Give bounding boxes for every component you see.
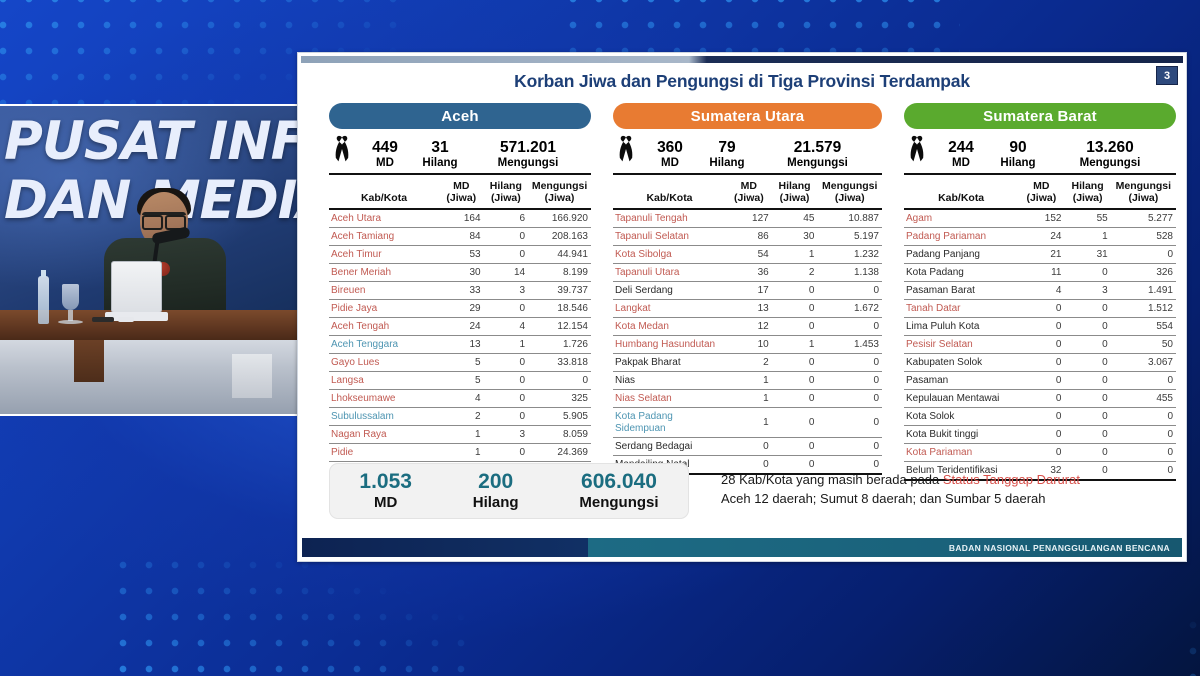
row-hilang-value: 1	[772, 336, 818, 354]
row-kabkota-name: Tanah Datar	[904, 300, 1018, 318]
row-md-value: 11	[1018, 264, 1064, 282]
col-header-md: MD (Jiwa)	[439, 178, 484, 209]
total-mengungsi-value: 606.040	[579, 470, 658, 494]
row-kabkota-name: Tapanuli Utara	[613, 264, 726, 282]
summary-hilang-label: Hilang	[413, 156, 467, 170]
row-mengungsi-value: 325	[528, 390, 591, 408]
province-summary-sumatera-barat: 244 MD 90 Hilang 13.260 Mengungsi	[904, 129, 1176, 175]
row-mengungsi-value: 326	[1111, 264, 1176, 282]
table-row: Pesisir Selatan0050	[904, 336, 1176, 354]
emergency-status-note: 28 Kab/Kota yang masih berada pada Statu…	[689, 463, 1172, 508]
row-mengungsi-value: 0	[1111, 426, 1176, 444]
footer-organization-name: BADAN NASIONAL PENANGGULANGAN BENCANA	[949, 543, 1170, 553]
table-row: Aceh Tamiang840208.163	[329, 228, 591, 246]
col-header-md-unit: (Jiwa)	[726, 193, 772, 205]
row-md-value: 0	[1018, 300, 1064, 318]
status-badge: Status Tanggap Darurat	[943, 472, 1080, 487]
table-row: Kota Padang110326	[904, 264, 1176, 282]
col-header-mengungsi-unit: (Jiwa)	[817, 193, 882, 205]
summary-md-sumbar: 244 MD	[932, 140, 990, 170]
row-md-value: 164	[439, 209, 484, 228]
row-hilang-value: 1	[484, 336, 529, 354]
row-mengungsi-value: 3.067	[1111, 354, 1176, 372]
row-kabkota-name: Nias Selatan	[613, 390, 726, 408]
row-mengungsi-value: 0	[1111, 372, 1176, 390]
col-header-mengungsi: Mengungsi (Jiwa)	[817, 178, 882, 209]
row-mengungsi-value: 1.512	[1111, 300, 1176, 318]
table-row: Pasaman000	[904, 372, 1176, 390]
row-mengungsi-value: 12.154	[528, 318, 591, 336]
province-table-aceh: Kab/Kota MD (Jiwa) Hilang (Jiwa) Mengung…	[329, 178, 591, 499]
row-kabkota-name: Kota Padang	[904, 264, 1018, 282]
table-row: Tapanuli Tengah1274510.887	[613, 209, 882, 228]
row-kabkota-name: Pidie Jaya	[329, 300, 439, 318]
col-header-hilang-text: Hilang	[1064, 181, 1110, 193]
row-hilang-value: 6	[484, 209, 529, 228]
row-mengungsi-value: 1.726	[528, 336, 591, 354]
row-md-value: 17	[726, 282, 772, 300]
row-kabkota-name: Aceh Utara	[329, 209, 439, 228]
slide-bottom-row: 1.053 MD 200 Hilang 606.040 Mengungsi 28…	[329, 463, 1172, 521]
row-mengungsi-value: 8.199	[528, 264, 591, 282]
row-hilang-value: 30	[772, 228, 818, 246]
row-md-value: 1	[726, 372, 772, 390]
col-header-mengungsi-text: Mengungsi	[528, 181, 591, 193]
table-row: Langkat1301.672	[613, 300, 882, 318]
table-row: Kepulauan Mentawai00455	[904, 390, 1176, 408]
row-hilang-value: 14	[484, 264, 529, 282]
province-table-sumatera-utara: Kab/Kota MD (Jiwa) Hilang (Jiwa) Mengung…	[613, 178, 882, 475]
table-row: Nagan Raya138.059	[329, 426, 591, 444]
col-header-md-text: MD	[439, 181, 484, 193]
row-mengungsi-value: 0	[528, 372, 591, 390]
row-kabkota-name: Kepulauan Mentawai	[904, 390, 1018, 408]
col-header-hilang-text: Hilang	[772, 181, 818, 193]
row-hilang-value: 0	[484, 372, 529, 390]
speaker-glasses	[142, 212, 186, 223]
row-hilang-value: 0	[1064, 426, 1110, 444]
table-row: Bireuen33339.737	[329, 282, 591, 300]
col-header-mengungsi-unit: (Jiwa)	[528, 193, 591, 205]
row-md-value: 5	[439, 354, 484, 372]
col-header-hilang: Hilang (Jiwa)	[1064, 178, 1110, 209]
row-hilang-value: 0	[1064, 354, 1110, 372]
row-mengungsi-value: 39.737	[528, 282, 591, 300]
table-row: Tapanuli Utara3621.138	[613, 264, 882, 282]
row-md-value: 4	[439, 390, 484, 408]
row-kabkota-name: Langsa	[329, 372, 439, 390]
col-header-kabkota: Kab/Kota	[613, 178, 726, 209]
summary-md-value: 360	[641, 140, 699, 156]
row-kabkota-name: Padang Panjang	[904, 246, 1018, 264]
total-md-label: MD	[359, 494, 412, 512]
tablet-base	[105, 312, 168, 321]
row-mengungsi-value: 24.369	[528, 444, 591, 462]
table-row: Subulussalam205.905	[329, 408, 591, 426]
row-hilang-value: 0	[484, 246, 529, 264]
row-hilang-value: 3	[484, 282, 529, 300]
table-row: Kota Bukit tinggi000	[904, 426, 1176, 444]
table-row: Aceh Utara1646166.920	[329, 209, 591, 228]
row-md-value: 33	[439, 282, 484, 300]
summary-md-aceh: 449 MD	[357, 140, 413, 170]
desk-object	[118, 317, 134, 322]
row-mengungsi-value: 0	[817, 438, 882, 456]
row-mengungsi-value: 0	[817, 390, 882, 408]
row-md-value: 1	[726, 408, 772, 438]
col-header-mengungsi-text: Mengungsi	[1111, 181, 1176, 193]
row-mengungsi-value: 0	[1111, 444, 1176, 462]
table-row: Nias Selatan100	[613, 390, 882, 408]
col-header-md-text: MD	[726, 181, 772, 193]
row-hilang-value: 0	[772, 354, 818, 372]
row-mengungsi-value: 8.059	[528, 426, 591, 444]
slide-top-bar	[301, 56, 1183, 63]
row-mengungsi-value: 1.491	[1111, 282, 1176, 300]
row-md-value: 0	[1018, 318, 1064, 336]
row-hilang-value: 0	[1064, 264, 1110, 282]
row-kabkota-name: Kota Medan	[613, 318, 726, 336]
background-object	[232, 354, 272, 398]
col-header-md: MD (Jiwa)	[1018, 178, 1064, 209]
status-note-line1: 28 Kab/Kota yang masih berada pada Statu…	[721, 470, 1172, 489]
row-hilang-value: 0	[772, 372, 818, 390]
table-row: Padang Panjang21310	[904, 246, 1176, 264]
row-md-value: 10	[726, 336, 772, 354]
province-summary-aceh: 449 MD 31 Hilang 571.201 Mengungsi	[329, 129, 591, 175]
row-hilang-value: 0	[772, 282, 818, 300]
row-md-value: 29	[439, 300, 484, 318]
table-row: Agam152555.277	[904, 209, 1176, 228]
row-kabkota-name: Tapanuli Selatan	[613, 228, 726, 246]
table-row: Kota Medan1200	[613, 318, 882, 336]
table-row: Tanah Datar001.512	[904, 300, 1176, 318]
province-block-aceh: Aceh 449 MD 31 Hilang 571.201 Mengungsi	[329, 103, 591, 499]
col-header-hilang-unit: (Jiwa)	[484, 193, 529, 205]
col-header-md-unit: (Jiwa)	[439, 193, 484, 205]
summary-md-label: MD	[932, 156, 990, 170]
row-mengungsi-value: 5.197	[817, 228, 882, 246]
row-mengungsi-value: 0	[817, 372, 882, 390]
row-mengungsi-value: 10.887	[817, 209, 882, 228]
row-hilang-value: 4	[484, 318, 529, 336]
summary-mengungsi-label: Mengungsi	[755, 156, 880, 170]
mourning-ribbon-icon	[615, 134, 641, 170]
row-mengungsi-value: 1.453	[817, 336, 882, 354]
row-kabkota-name: Aceh Tengah	[329, 318, 439, 336]
row-hilang-value: 0	[772, 300, 818, 318]
row-mengungsi-value: 44.941	[528, 246, 591, 264]
drinking-glass-base	[58, 320, 83, 324]
row-kabkota-name: Kota Bukit tinggi	[904, 426, 1018, 444]
row-md-value: 152	[1018, 209, 1064, 228]
table-row: Deli Serdang1700	[613, 282, 882, 300]
row-kabkota-name: Kabupaten Solok	[904, 354, 1018, 372]
col-header-mengungsi: Mengungsi (Jiwa)	[1111, 178, 1176, 209]
footer-left-block	[302, 538, 588, 557]
row-md-value: 2	[439, 408, 484, 426]
row-kabkota-name: Subulussalam	[329, 408, 439, 426]
row-hilang-value: 0	[772, 390, 818, 408]
col-header-hilang: Hilang (Jiwa)	[484, 178, 529, 209]
row-hilang-value: 31	[1064, 246, 1110, 264]
row-kabkota-name: Nagan Raya	[329, 426, 439, 444]
row-hilang-value: 3	[1064, 282, 1110, 300]
row-md-value: 54	[726, 246, 772, 264]
total-md: 1.053 MD	[359, 470, 412, 512]
col-header-mengungsi: Mengungsi (Jiwa)	[528, 178, 591, 209]
row-kabkota-name: Pidie	[329, 444, 439, 462]
row-hilang-value: 55	[1064, 209, 1110, 228]
row-md-value: 1	[439, 444, 484, 462]
table-row: Kota Padang Sidempuan100	[613, 408, 882, 438]
table-row: Aceh Timur53044.941	[329, 246, 591, 264]
col-header-mengungsi-text: Mengungsi	[817, 181, 882, 193]
col-header-kabkota: Kab/Kota	[329, 178, 439, 209]
row-kabkota-name: Bireuen	[329, 282, 439, 300]
row-kabkota-name: Nias	[613, 372, 726, 390]
row-kabkota-name: Lhokseumawe	[329, 390, 439, 408]
summary-hilang-label: Hilang	[990, 156, 1046, 170]
summary-mengungsi-label: Mengungsi	[1046, 156, 1174, 170]
row-hilang-value: 0	[772, 318, 818, 336]
row-mengungsi-value: 1.232	[817, 246, 882, 264]
row-md-value: 0	[1018, 444, 1064, 462]
row-hilang-value: 1	[1064, 228, 1110, 246]
col-header-mengungsi-unit: (Jiwa)	[1111, 193, 1176, 205]
row-md-value: 2	[726, 354, 772, 372]
row-md-value: 5	[439, 372, 484, 390]
row-mengungsi-value: 18.546	[528, 300, 591, 318]
row-mengungsi-value: 5.277	[1111, 209, 1176, 228]
row-kabkota-name: Pasaman Barat	[904, 282, 1018, 300]
national-totals-box: 1.053 MD 200 Hilang 606.040 Mengungsi	[329, 463, 689, 519]
drinking-glass	[62, 284, 79, 310]
row-hilang-value: 0	[1064, 300, 1110, 318]
col-header-kabkota: Kab/Kota	[904, 178, 1018, 209]
summary-md-sumut: 360 MD	[641, 140, 699, 170]
row-md-value: 36	[726, 264, 772, 282]
province-table-sumatera-barat: Kab/Kota MD (Jiwa) Hilang (Jiwa) Mengung…	[904, 178, 1176, 481]
row-hilang-value: 0	[1064, 336, 1110, 354]
row-mengungsi-value: 554	[1111, 318, 1176, 336]
summary-mengungsi-value: 21.579	[755, 140, 880, 156]
table-header-row: Kab/Kota MD (Jiwa) Hilang (Jiwa) Mengung…	[613, 178, 882, 209]
table-header-row: Kab/Kota MD (Jiwa) Hilang (Jiwa) Mengung…	[904, 178, 1176, 209]
status-note-prefix: 28 Kab/Kota yang masih berada pada	[721, 472, 943, 487]
row-hilang-value: 0	[1064, 372, 1110, 390]
table-row: Lhokseumawe40325	[329, 390, 591, 408]
row-md-value: 13	[726, 300, 772, 318]
table-row: Gayo Lues5033.818	[329, 354, 591, 372]
col-header-hilang-text: Hilang	[484, 181, 529, 193]
mourning-ribbon-icon	[331, 134, 357, 170]
row-hilang-value: 0	[772, 408, 818, 438]
province-header-aceh: Aceh	[329, 103, 591, 129]
col-header-hilang: Hilang (Jiwa)	[772, 178, 818, 209]
summary-md-label: MD	[357, 156, 413, 170]
row-hilang-value: 2	[772, 264, 818, 282]
row-kabkota-name: Padang Pariaman	[904, 228, 1018, 246]
total-md-value: 1.053	[359, 470, 412, 494]
summary-mengungsi-sumut: 21.579 Mengungsi	[755, 140, 880, 170]
row-md-value: 0	[1018, 354, 1064, 372]
row-hilang-value: 0	[484, 390, 529, 408]
table-row: Langsa500	[329, 372, 591, 390]
summary-hilang-sumbar: 90 Hilang	[990, 140, 1046, 170]
row-mengungsi-value: 455	[1111, 390, 1176, 408]
desk-leg	[74, 340, 104, 382]
row-hilang-value: 0	[1064, 444, 1110, 462]
row-kabkota-name: Pesisir Selatan	[904, 336, 1018, 354]
row-kabkota-name: Kota Pariaman	[904, 444, 1018, 462]
row-md-value: 0	[1018, 408, 1064, 426]
row-kabkota-name: Kota Solok	[904, 408, 1018, 426]
col-header-hilang-unit: (Jiwa)	[772, 193, 818, 205]
col-header-md: MD (Jiwa)	[726, 178, 772, 209]
summary-hilang-value: 90	[990, 140, 1046, 156]
row-md-value: 12	[726, 318, 772, 336]
row-kabkota-name: Bener Meriah	[329, 264, 439, 282]
row-mengungsi-value: 0	[1111, 408, 1176, 426]
total-mengungsi: 606.040 Mengungsi	[579, 470, 658, 512]
table-row: Aceh Tenggara1311.726	[329, 336, 591, 354]
row-mengungsi-value: 50	[1111, 336, 1176, 354]
row-mengungsi-value: 0	[817, 282, 882, 300]
video-feed-panel[interactable]: PUSAT INFO DAN MEDIA	[0, 104, 301, 416]
row-mengungsi-value: 0	[817, 354, 882, 372]
table-row: Bener Meriah30148.199	[329, 264, 591, 282]
presentation-slide: 3 Korban Jiwa dan Pengungsi di Tiga Prov…	[297, 52, 1187, 562]
row-md-value: 1	[726, 390, 772, 408]
mourning-ribbon-icon	[906, 134, 932, 170]
summary-mengungsi-value: 571.201	[467, 140, 589, 156]
table-row: Aceh Tengah24412.154	[329, 318, 591, 336]
summary-mengungsi-label: Mengungsi	[467, 156, 589, 170]
row-kabkota-name: Pasaman	[904, 372, 1018, 390]
summary-hilang-aceh: 31 Hilang	[413, 140, 467, 170]
col-header-hilang-unit: (Jiwa)	[1064, 193, 1110, 205]
table-row: Pidie1024.369	[329, 444, 591, 462]
row-kabkota-name: Deli Serdang	[613, 282, 726, 300]
row-hilang-value: 0	[484, 300, 529, 318]
row-md-value: 4	[1018, 282, 1064, 300]
table-row: Kota Pariaman000	[904, 444, 1176, 462]
province-block-sumatera-utara: Sumatera Utara 360 MD 79 Hilang 21.579 M…	[613, 103, 882, 475]
row-hilang-value: 0	[484, 228, 529, 246]
row-hilang-value: 0	[484, 354, 529, 372]
table-row: Kota Solok000	[904, 408, 1176, 426]
table-row: Kota Sibolga5411.232	[613, 246, 882, 264]
total-mengungsi-label: Mengungsi	[579, 494, 658, 512]
row-kabkota-name: Agam	[904, 209, 1018, 228]
desk-object	[92, 317, 114, 322]
table-row: Padang Pariaman241528	[904, 228, 1176, 246]
total-hilang-label: Hilang	[473, 494, 519, 512]
backdrop-text-line1: PUSAT INFO	[4, 112, 301, 171]
table-row: Tapanuli Selatan86305.197	[613, 228, 882, 246]
table-row: Humbang Hasundutan1011.453	[613, 336, 882, 354]
summary-hilang-value: 31	[413, 140, 467, 156]
row-md-value: 84	[439, 228, 484, 246]
row-mengungsi-value: 0	[817, 408, 882, 438]
halftone-dot-pattern	[110, 552, 470, 676]
row-hilang-value: 0	[484, 408, 529, 426]
status-note-line2: Aceh 12 daerah; Sumut 8 daerah; dan Sumb…	[721, 489, 1172, 508]
row-kabkota-name: Aceh Tenggara	[329, 336, 439, 354]
row-kabkota-name: Kota Sibolga	[613, 246, 726, 264]
table-row: Pakpak Bharat200	[613, 354, 882, 372]
row-hilang-value: 45	[772, 209, 818, 228]
row-hilang-value: 0	[1064, 318, 1110, 336]
summary-md-label: MD	[641, 156, 699, 170]
total-hilang-value: 200	[473, 470, 519, 494]
row-md-value: 0	[1018, 372, 1064, 390]
summary-hilang-value: 79	[699, 140, 755, 156]
table-row: Kabupaten Solok003.067	[904, 354, 1176, 372]
row-mengungsi-value: 5.905	[528, 408, 591, 426]
row-md-value: 13	[439, 336, 484, 354]
summary-hilang-sumut: 79 Hilang	[699, 140, 755, 170]
row-md-value: 0	[1018, 426, 1064, 444]
table-header-row: Kab/Kota MD (Jiwa) Hilang (Jiwa) Mengung…	[329, 178, 591, 209]
row-mengungsi-value: 1.138	[817, 264, 882, 282]
table-row: Lima Puluh Kota00554	[904, 318, 1176, 336]
row-hilang-value: 0	[772, 438, 818, 456]
slide-footer-bar: BADAN NASIONAL PENANGGULANGAN BENCANA	[302, 538, 1182, 557]
summary-mengungsi-value: 13.260	[1046, 140, 1174, 156]
row-md-value: 30	[439, 264, 484, 282]
row-mengungsi-value: 1.672	[817, 300, 882, 318]
row-md-value: 0	[1018, 390, 1064, 408]
col-header-md-text: MD	[1018, 181, 1064, 193]
row-hilang-value: 0	[484, 444, 529, 462]
row-md-value: 24	[439, 318, 484, 336]
row-md-value: 86	[726, 228, 772, 246]
row-md-value: 1	[439, 426, 484, 444]
summary-mengungsi-sumbar: 13.260 Mengungsi	[1046, 140, 1174, 170]
row-md-value: 21	[1018, 246, 1064, 264]
table-row: Pasaman Barat431.491	[904, 282, 1176, 300]
total-hilang: 200 Hilang	[473, 470, 519, 512]
row-kabkota-name: Humbang Hasundutan	[613, 336, 726, 354]
row-kabkota-name: Lima Puluh Kota	[904, 318, 1018, 336]
row-hilang-value: 3	[484, 426, 529, 444]
water-bottle	[38, 276, 49, 324]
summary-md-value: 449	[357, 140, 413, 156]
summary-mengungsi-aceh: 571.201 Mengungsi	[467, 140, 589, 170]
table-body-aceh: Aceh Utara1646166.920Aceh Tamiang840208.…	[329, 209, 591, 498]
col-header-md-unit: (Jiwa)	[1018, 193, 1064, 205]
tablet-screen	[111, 261, 162, 313]
province-block-sumatera-barat: Sumatera Barat 244 MD 90 Hilang 13.260 M…	[904, 103, 1176, 481]
row-mengungsi-value: 528	[1111, 228, 1176, 246]
row-mengungsi-value: 208.163	[528, 228, 591, 246]
row-md-value: 53	[439, 246, 484, 264]
province-header-sumatera-barat: Sumatera Barat	[904, 103, 1176, 129]
row-kabkota-name: Tapanuli Tengah	[613, 209, 726, 228]
summary-hilang-label: Hilang	[699, 156, 755, 170]
row-mengungsi-value: 33.818	[528, 354, 591, 372]
province-summary-sumatera-utara: 360 MD 79 Hilang 21.579 Mengungsi	[613, 129, 882, 175]
row-md-value: 24	[1018, 228, 1064, 246]
row-hilang-value: 1	[772, 246, 818, 264]
table-row: Serdang Bedagai000	[613, 438, 882, 456]
row-mengungsi-value: 0	[1111, 246, 1176, 264]
row-hilang-value: 0	[1064, 390, 1110, 408]
row-kabkota-name: Pakpak Bharat	[613, 354, 726, 372]
slide-title: Korban Jiwa dan Pengungsi di Tiga Provin…	[298, 71, 1186, 92]
